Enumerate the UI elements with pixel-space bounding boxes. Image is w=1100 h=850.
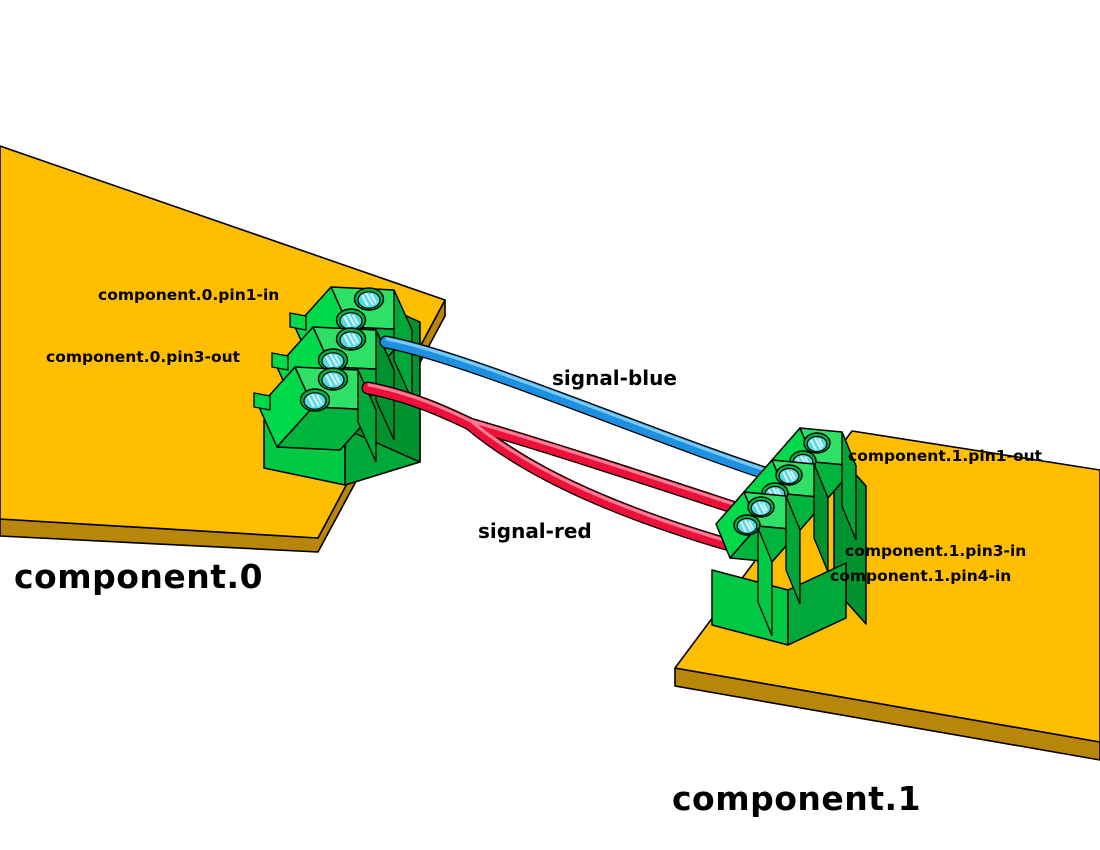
screw-terminal-1-pin6[interactable] <box>734 515 760 535</box>
label-signal-red: signal-red <box>478 519 592 543</box>
label-signal-blue: signal-blue <box>552 366 677 390</box>
label-component-1-pin1-out: component.1.pin1-out <box>848 447 1043 465</box>
diagram-canvas: component.0.pin1-in component.0.pin3-out… <box>0 0 1100 850</box>
screw-terminal-0-pin3[interactable] <box>337 328 366 350</box>
screw-terminal-0-pin6[interactable] <box>301 389 330 411</box>
label-component-1-pin3-in: component.1.pin3-in <box>845 542 1026 560</box>
screw-terminal-0-pin1[interactable] <box>355 288 384 310</box>
screw-terminal-1-pin3[interactable] <box>776 465 802 485</box>
screw-terminal-1-pin1[interactable] <box>804 433 830 453</box>
label-component-0-pin1-in: component.0.pin1-in <box>98 286 279 304</box>
pcb-interconnect-scene: component.0.pin1-in component.0.pin3-out… <box>0 0 1100 850</box>
label-component-0: component.0 <box>14 557 263 596</box>
label-component-1: component.1 <box>672 779 921 818</box>
screw-terminal-1-pin5[interactable] <box>748 497 774 517</box>
label-component-1-pin4-in: component.1.pin4-in <box>830 567 1011 585</box>
screw-terminal-0-pin5[interactable] <box>319 368 348 390</box>
label-component-0-pin3-out: component.0.pin3-out <box>46 348 241 366</box>
